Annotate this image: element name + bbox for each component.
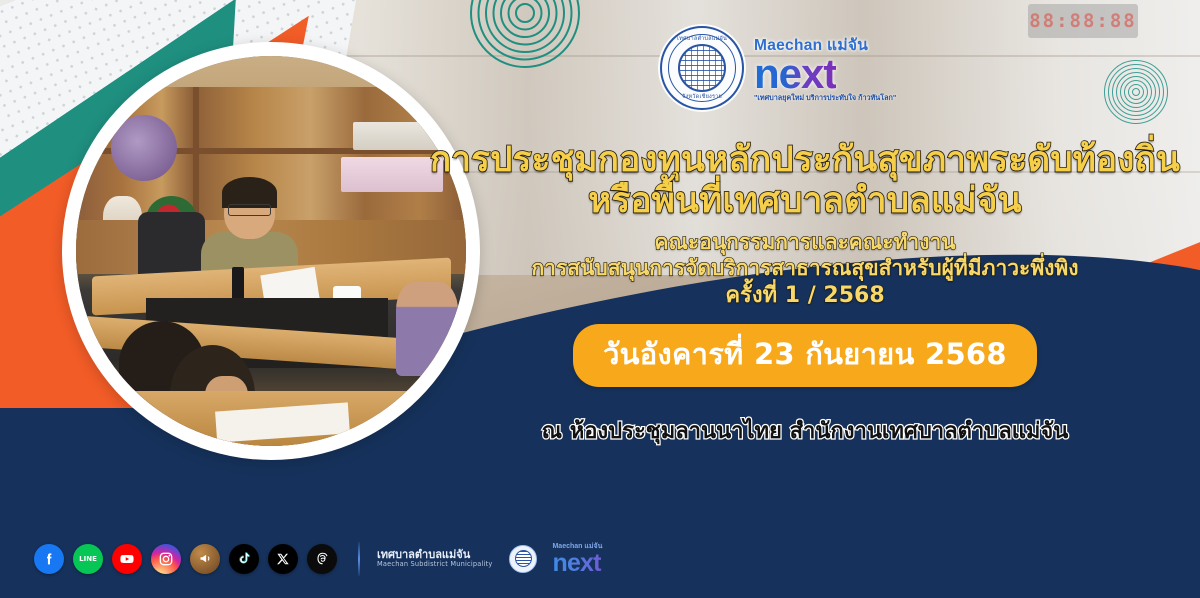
footer-brand-word: next — [552, 552, 602, 576]
next-brand-block: Maechan แม่จัน next "เทศบาลยุคใหม่ บริกา… — [754, 32, 896, 103]
concentric-circles-icon-right — [1104, 60, 1168, 124]
instagram-icon[interactable] — [151, 544, 181, 574]
title-line-1: การประชุมกองทุนหลักประกันสุขภาพระดับท้อง… — [410, 140, 1200, 181]
facebook-icon[interactable] — [34, 544, 64, 574]
seal-bottom-text: จังหวัดเชียงราย — [662, 93, 742, 101]
headline-text-block: การประชุมกองทุนหลักประกันสุขภาพระดับท้อง… — [410, 140, 1200, 448]
threads-icon[interactable] — [307, 544, 337, 574]
footer-seal-icon — [509, 545, 537, 573]
youtube-icon[interactable] — [112, 544, 142, 574]
seal-top-text: เทศบาลตำบลแม่จัน — [662, 35, 742, 43]
title-line-2: หรือพื้นที่เทศบาลตำบลแม่จัน — [410, 181, 1200, 222]
brand-logo-lockup: เทศบาลตำบลแม่จัน จังหวัดเชียงราย Maechan… — [660, 26, 896, 110]
background-digital-clock: 88:88:88 — [1028, 4, 1138, 38]
footer-next-brand: Maechan แม่จัน next — [552, 541, 602, 576]
meeting-photo — [76, 56, 466, 446]
brand-wordmark: next — [754, 53, 836, 94]
event-date-badge: วันอังคารที่ 23 กันยายน 2568 — [573, 324, 1037, 387]
seal-globe-icon — [678, 44, 726, 92]
subtitle-line-2: การสนับสนุนการจัดบริการสาธารณสุขสำหรับผู… — [410, 255, 1200, 281]
thai-megaphone-icon[interactable] — [190, 544, 220, 574]
event-venue-text: ณ ห้องประชุมลานนาไทย สำนักงานเทศบาลตำบลแ… — [410, 413, 1200, 448]
poster-canvas: 88:88:88 — [0, 0, 1200, 598]
footer-bar: LINE เทศบาลตำบลแม่จัน Maechan Subdistric… — [34, 541, 602, 576]
municipal-seal-icon: เทศบาลตำบลแม่จัน จังหวัดเชียงราย — [660, 26, 744, 110]
footer-org-name-en: Maechan Subdistrict Municipality — [377, 561, 492, 569]
footer-divider — [358, 542, 360, 576]
subtitle-line-3: ครั้งที่ 1 / 2568 — [410, 282, 1200, 311]
subtitle-line-1: คณะอนุกรรมการและคณะทำงาน — [410, 229, 1200, 255]
line-icon[interactable]: LINE — [73, 544, 103, 574]
x-twitter-icon[interactable] — [268, 544, 298, 574]
digital-clock-readout: 88:88:88 — [1028, 4, 1138, 38]
tiktok-icon[interactable] — [229, 544, 259, 574]
footer-org-names: เทศบาลตำบลแม่จัน Maechan Subdistrict Mun… — [377, 549, 492, 569]
